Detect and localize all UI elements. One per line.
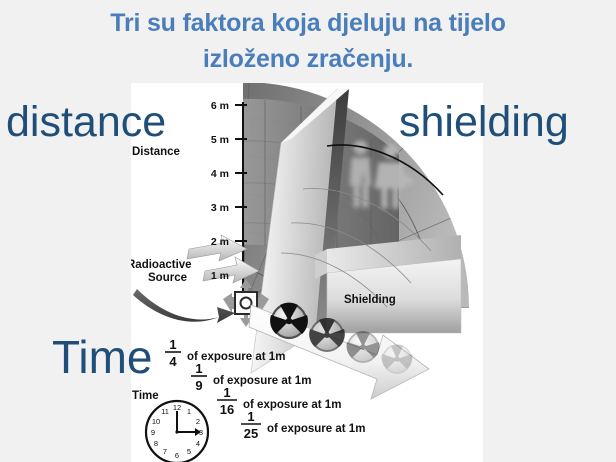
svg-text:8: 8 [154,439,158,448]
exposure-4-denominator: 25 [244,426,258,441]
overlay-word-distance: distance [6,101,166,144]
exposure-1-denominator: 4 [169,354,177,369]
svg-text:12: 12 [173,403,181,412]
exposure-3-numerator: 1 [223,385,230,400]
svg-text:6: 6 [175,451,179,460]
exposure-4-numerator: 1 [247,409,254,424]
exposure-2-denominator: 9 [195,378,202,393]
overlay-word-time: Time [52,334,153,380]
axis-tick-2m: 2 m [211,236,229,248]
axis-tick-3m: 3 m [211,202,229,214]
exposure-3-denominator: 16 [220,402,234,417]
exposure-2-numerator: 1 [195,361,202,376]
axis-tick-6m: 6 m [211,100,229,112]
label-shielding: Shielding [344,294,396,306]
exposure-row-4: 1 25 of exposure at 1m [241,409,365,441]
title-line-2: izloženo zračenju. [0,42,616,78]
exposure-3-text: of exposure at 1m [243,399,341,411]
axis-tick-4m: 4 m [211,168,229,180]
svg-text:5: 5 [187,447,191,456]
svg-text:4: 4 [196,439,200,448]
radiation-symbol-3 [347,331,380,362]
exposure-1-numerator: 1 [169,337,176,352]
incoming-dark-arrow [133,289,235,323]
axis-tick-1m: 1 m [211,270,229,282]
label-time: Time [132,390,159,402]
radiation-symbol-4 [382,345,413,373]
svg-text:11: 11 [161,407,169,416]
page-title: Tri su faktora koja djeluju na tijelo iz… [0,6,616,77]
clock-icon: 12 1 2 3 4 5 6 7 8 9 10 11 [146,401,208,462]
title-line-1: Tri su faktora koja djeluju na tijelo [0,6,616,42]
label-radioactive-source-line2: Source [148,272,187,284]
exposure-row-3: 1 16 of exposure at 1m [217,385,341,417]
exposure-row-2: 1 9 of exposure at 1m [191,361,311,393]
svg-text:7: 7 [163,447,167,456]
axis-tick-5m: 5 m [211,134,229,146]
label-distance: Distance [132,146,180,158]
svg-text:1: 1 [187,407,191,416]
svg-text:2: 2 [196,417,200,426]
overlay-word-shielding: shielding [399,101,569,144]
exposure-4-text: of exposure at 1m [267,423,365,435]
svg-text:9: 9 [151,428,155,437]
slide-canvas: Tri su faktora koja djeluju na tijelo iz… [0,0,616,462]
label-radioactive-source-line1: Radioactive [131,259,192,271]
svg-text:10: 10 [152,417,160,426]
shielding-wall-block [315,235,461,333]
